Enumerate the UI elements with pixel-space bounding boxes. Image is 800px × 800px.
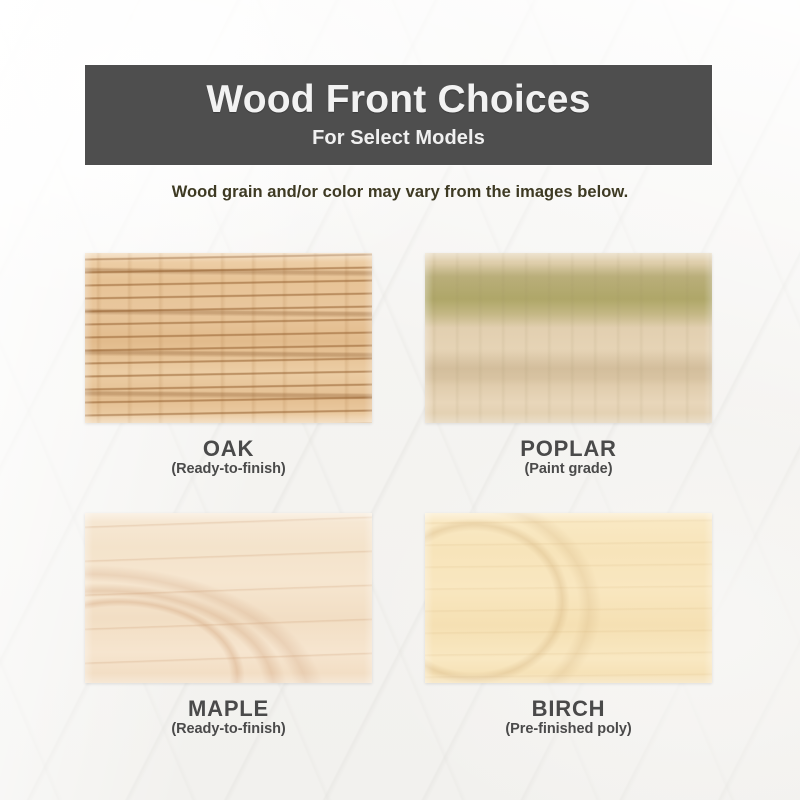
maple-label-name: MAPLE xyxy=(85,697,372,720)
poplar-label-note: (Paint grade) xyxy=(425,462,712,478)
poplar-wood-swatch xyxy=(425,253,712,423)
oak-label-note: (Ready-to-finish) xyxy=(85,462,372,478)
poplar-label-name: POPLAR xyxy=(425,437,712,460)
wood-option-maple[interactable]: MAPLE (Ready-to-finish) xyxy=(85,513,372,738)
page-subtitle: For Select Models xyxy=(312,127,485,150)
maple-label-note: (Ready-to-finish) xyxy=(85,722,372,738)
birch-label-note: (Pre-finished poly) xyxy=(425,722,712,738)
maple-label-block: MAPLE (Ready-to-finish) xyxy=(85,683,372,738)
birch-label-name: BIRCH xyxy=(425,697,712,720)
birch-wood-swatch xyxy=(425,513,712,683)
oak-wood-swatch xyxy=(85,253,372,423)
oak-label-block: OAK (Ready-to-finish) xyxy=(85,423,372,478)
wood-front-choices-page: Wood Front Choices For Select Models Woo… xyxy=(0,0,800,800)
grain-variation-disclaimer: Wood grain and/or color may vary from th… xyxy=(0,183,800,202)
wood-option-birch[interactable]: BIRCH (Pre-finished poly) xyxy=(425,513,712,738)
oak-label-name: OAK xyxy=(85,437,372,460)
wood-option-poplar[interactable]: POPLAR (Paint grade) xyxy=(425,253,712,478)
header-banner: Wood Front Choices For Select Models xyxy=(85,65,712,165)
poplar-label-block: POPLAR (Paint grade) xyxy=(425,423,712,478)
page-title: Wood Front Choices xyxy=(206,80,590,121)
wood-option-oak[interactable]: OAK (Ready-to-finish) xyxy=(85,253,372,478)
birch-label-block: BIRCH (Pre-finished poly) xyxy=(425,683,712,738)
maple-wood-swatch xyxy=(85,513,372,683)
